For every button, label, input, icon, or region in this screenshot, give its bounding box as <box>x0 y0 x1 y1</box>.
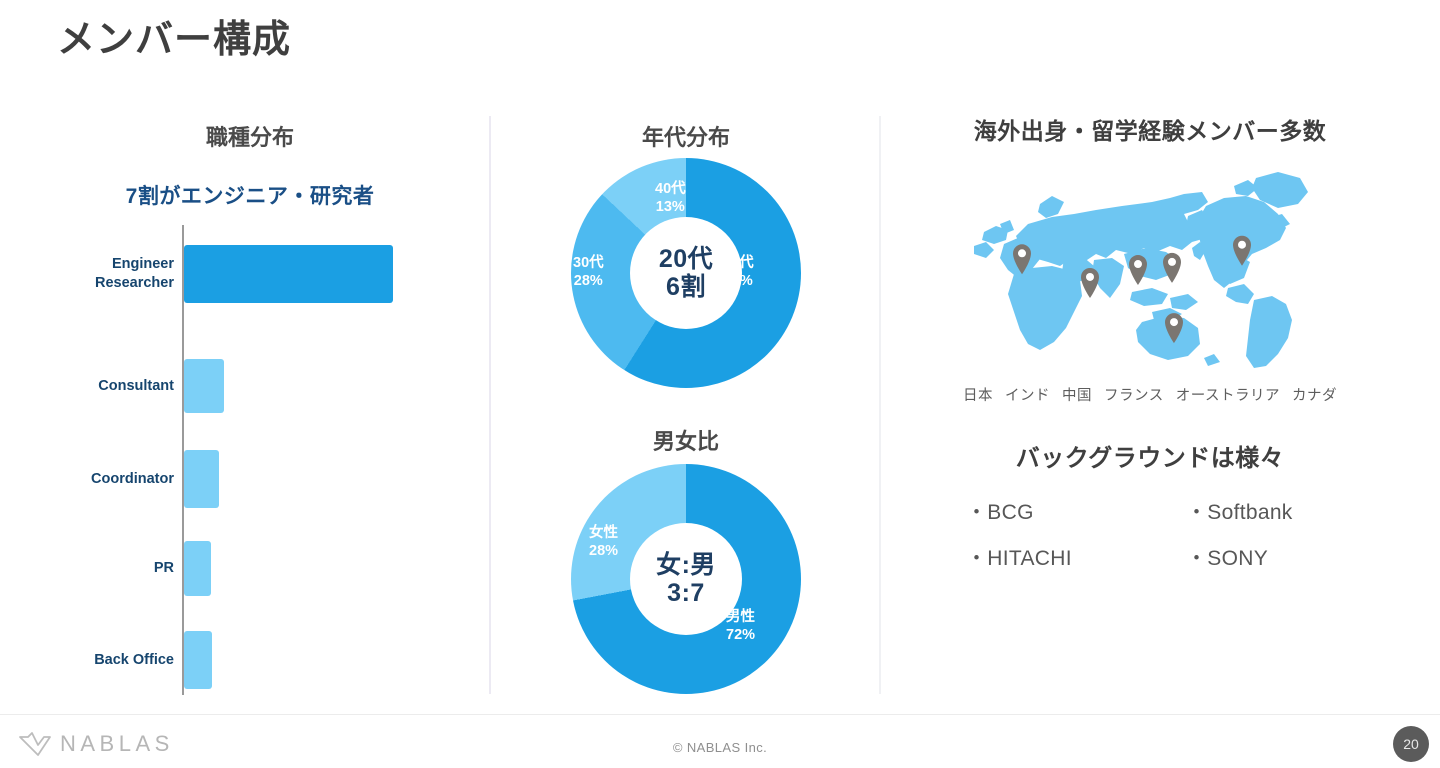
copyright-text: © NABLAS Inc. <box>0 740 1440 755</box>
age-center-line1: 20代 <box>659 245 713 273</box>
donut-slice-label: 30代28% <box>573 254 604 290</box>
slide-canvas: メンバー構成 職種分布 7割がエンジニア・研究者 EngineerResearc… <box>0 0 1440 768</box>
world-map <box>956 162 1356 377</box>
donut-slice-label: 男性72% <box>726 608 755 644</box>
panel-donut-charts: 年代分布 20代 6割 20代59%30代28%40代13% 男女比 女:男 3… <box>500 112 872 702</box>
gender-donut-chart: 女:男 3:7 男性72%女性28% <box>571 464 801 694</box>
bar-fill <box>184 541 211 596</box>
country-label: 中国 <box>1062 388 1092 404</box>
background-company-item: ・HITACHI <box>966 542 1186 572</box>
age-donut-chart: 20代 6割 20代59%30代28%40代13% <box>571 158 801 388</box>
bar-fill <box>184 631 212 689</box>
column-divider-2 <box>879 116 881 694</box>
background-company-item: ・BCG <box>966 496 1186 526</box>
donut-slice-label: 女性28% <box>589 524 618 560</box>
panel-job-heading: 職種分布 <box>20 120 480 152</box>
country-label: インド <box>1005 388 1050 404</box>
panel-global-members: 海外出身・留学経験メンバー多数 <box>900 104 1420 704</box>
column-divider-1 <box>489 116 491 694</box>
bar-fill <box>184 359 224 413</box>
donut-slice-label: 20代59% <box>723 254 754 290</box>
bar-label: EngineerResearcher <box>24 255 174 293</box>
panel-global-heading: 海外出身・留学経験メンバー多数 <box>900 112 1400 146</box>
country-label: 日本 <box>963 388 993 404</box>
panel-age-heading: 年代分布 <box>500 120 872 152</box>
country-label: カナダ <box>1292 388 1337 404</box>
world-map-svg <box>956 162 1356 377</box>
bar-label: Back Office <box>24 651 174 670</box>
country-label: オーストラリア <box>1176 388 1280 404</box>
map-pin-中国 <box>1129 255 1147 285</box>
panel-job-subheading: 7割がエンジニア・研究者 <box>20 180 480 210</box>
page-number-badge: 20 <box>1393 726 1429 762</box>
bar-label: Coordinator <box>24 470 174 489</box>
bar-label: Consultant <box>24 377 174 396</box>
country-label: フランス <box>1104 388 1164 404</box>
map-pin-インド <box>1081 268 1099 298</box>
gender-center-line2: 3:7 <box>667 579 705 607</box>
footer-divider <box>0 714 1440 715</box>
page-title: メンバー構成 <box>57 8 291 63</box>
background-company-item: ・Softbank <box>1186 496 1386 526</box>
background-company-list: ・BCG・Softbank・HITACHI・SONY <box>966 496 1386 572</box>
panel-gender-heading: 男女比 <box>500 424 872 456</box>
donut-slice-label: 40代13% <box>655 180 686 216</box>
bar-fill <box>184 450 219 508</box>
age-center-line2: 6割 <box>666 273 706 301</box>
map-pin-日本 <box>1163 253 1181 283</box>
background-heading: バックグラウンドは様々 <box>900 438 1400 473</box>
bar-label: PR <box>24 559 174 578</box>
bar-fill <box>184 245 393 303</box>
panel-job-distribution: 職種分布 7割がエンジニア・研究者 EngineerResearcherCons… <box>20 112 480 702</box>
country-label-list: 日本インド中国フランスオーストラリアカナダ <box>900 384 1400 405</box>
gender-center-line1: 女:男 <box>656 551 716 579</box>
background-company-item: ・SONY <box>1186 542 1386 572</box>
